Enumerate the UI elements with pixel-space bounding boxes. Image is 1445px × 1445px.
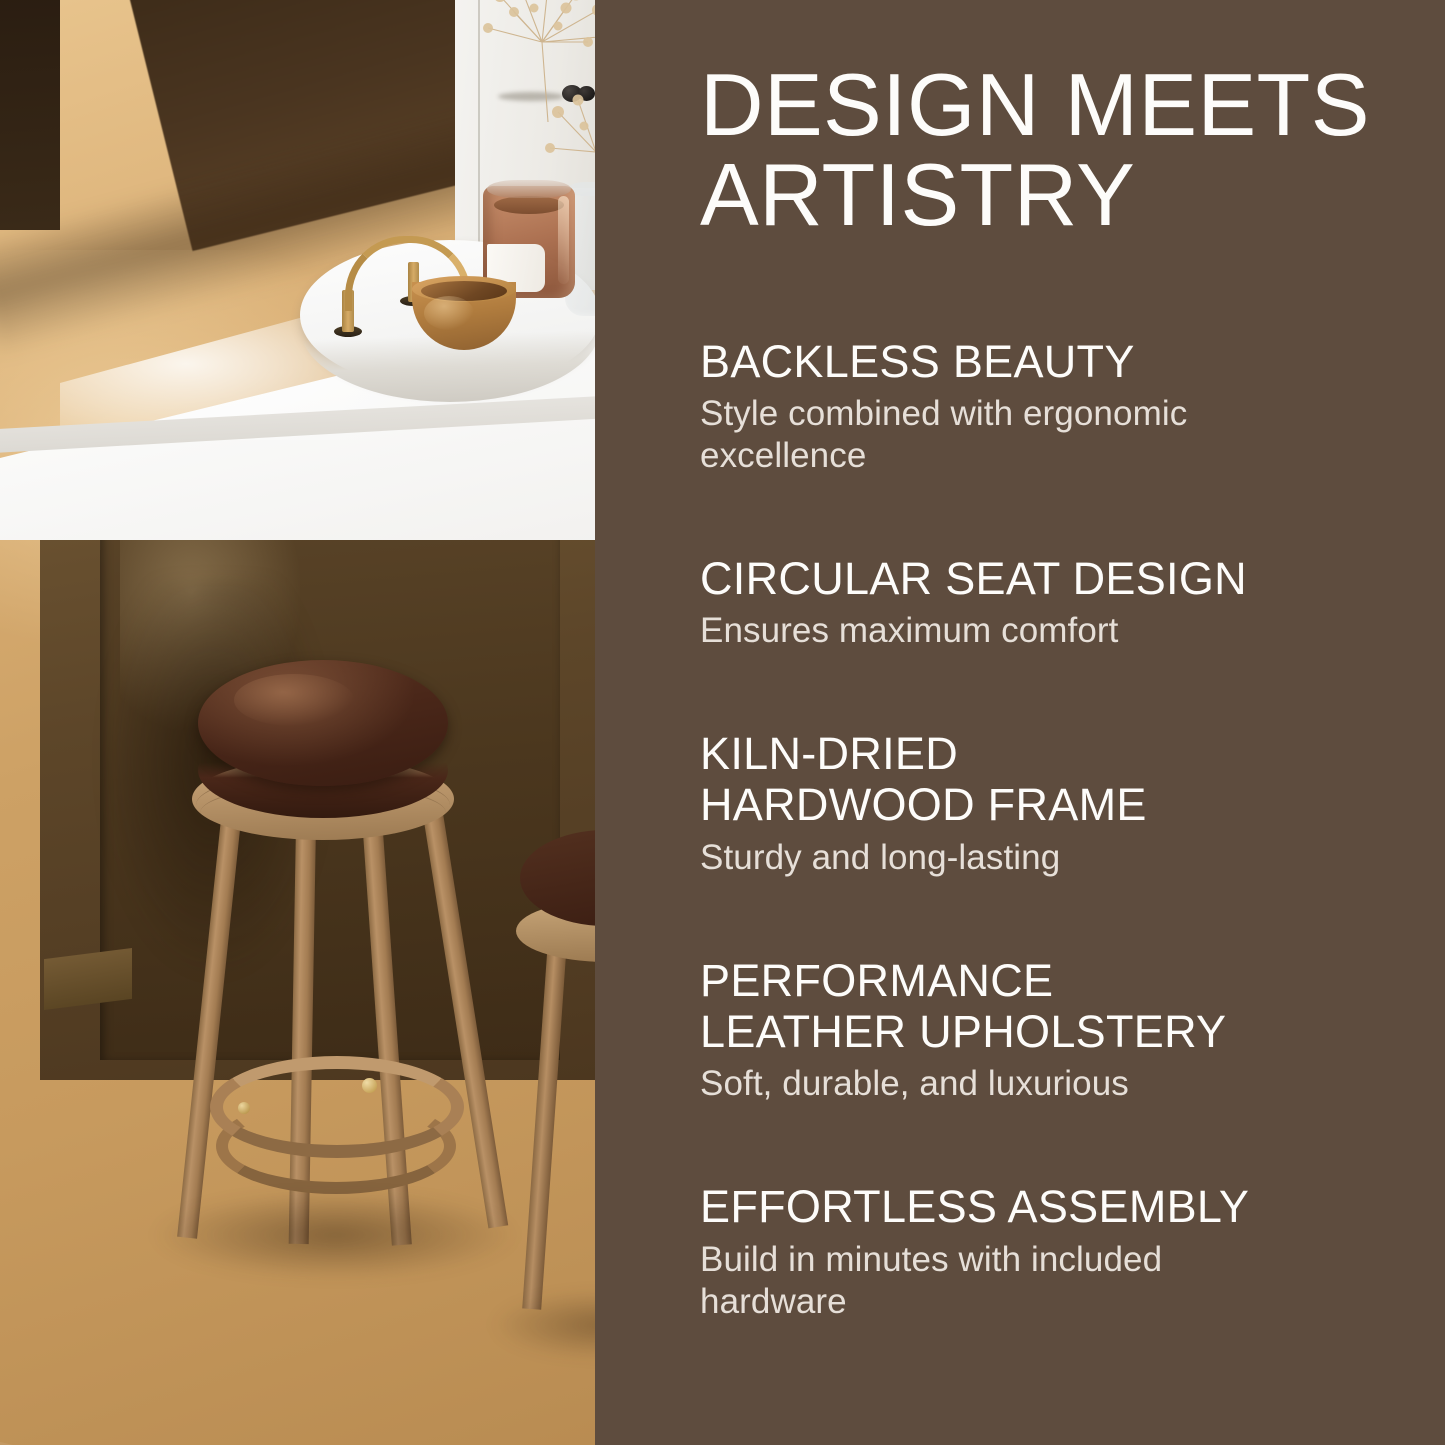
stool-contact-shadow — [150, 1190, 520, 1280]
feature-item-performance-leather-upholstery: PERFORMANCE LEATHER UPHOLSTERY Soft, dur… — [700, 955, 1383, 1106]
background-wall-shadow — [0, 0, 60, 230]
wooden-bowl-sheen — [424, 296, 474, 330]
feature-item-backless-beauty: BACKLESS BEAUTY Style combined with ergo… — [700, 336, 1383, 477]
feature-description: Build in minutes with included hardware — [700, 1239, 1383, 1323]
feature-title: PERFORMANCE LEATHER UPHOLSTERY — [700, 955, 1383, 1058]
feature-description: Ensures maximum comfort — [700, 610, 1383, 652]
cabinet-knob-shadow — [498, 92, 564, 101]
bar-stool-primary — [190, 660, 460, 1280]
feature-item-effortless-assembly: EFFORTLESS ASSEMBLY Build in minutes wit… — [700, 1181, 1383, 1322]
product-lifestyle-photo — [0, 0, 595, 1445]
jar-neck — [487, 180, 571, 198]
stool-leg — [522, 939, 567, 1309]
feature-description: Style combined with ergonomic excellence — [700, 393, 1383, 477]
page-title: DESIGN MEETS ARTISTRY — [700, 60, 1383, 240]
feature-title: EFFORTLESS ASSEMBLY — [700, 1181, 1383, 1232]
brass-hardware-icon — [362, 1078, 377, 1093]
feature-item-kiln-dried-hardwood-frame: KILN-DRIED HARDWOOD FRAME Sturdy and lon… — [700, 728, 1383, 879]
feature-item-circular-seat-design: CIRCULAR SEAT DESIGN Ensures maximum com… — [700, 553, 1383, 652]
feature-title: BACKLESS BEAUTY — [700, 336, 1383, 387]
stool-seat-highlight — [234, 674, 354, 726]
bar-stool-secondary — [520, 830, 595, 1360]
jar-gloss-highlight — [558, 196, 569, 284]
cabinet-knob-secondary-icon — [578, 86, 595, 101]
feature-list: BACKLESS BEAUTY Style combined with ergo… — [700, 336, 1383, 1323]
product-infographic: DESIGN MEETS ARTISTRY BACKLESS BEAUTY St… — [0, 0, 1445, 1445]
stool-leather-seat — [520, 830, 595, 926]
jar-lid — [494, 196, 564, 214]
feature-text-panel: DESIGN MEETS ARTISTRY BACKLESS BEAUTY St… — [595, 0, 1445, 1445]
feature-title: KILN-DRIED HARDWOOD FRAME — [700, 728, 1383, 831]
brass-hardware-icon — [238, 1102, 250, 1114]
feature-description: Soft, durable, and luxurious — [700, 1063, 1383, 1105]
feature-description: Sturdy and long-lasting — [700, 837, 1383, 879]
feature-title: CIRCULAR SEAT DESIGN — [700, 553, 1383, 604]
